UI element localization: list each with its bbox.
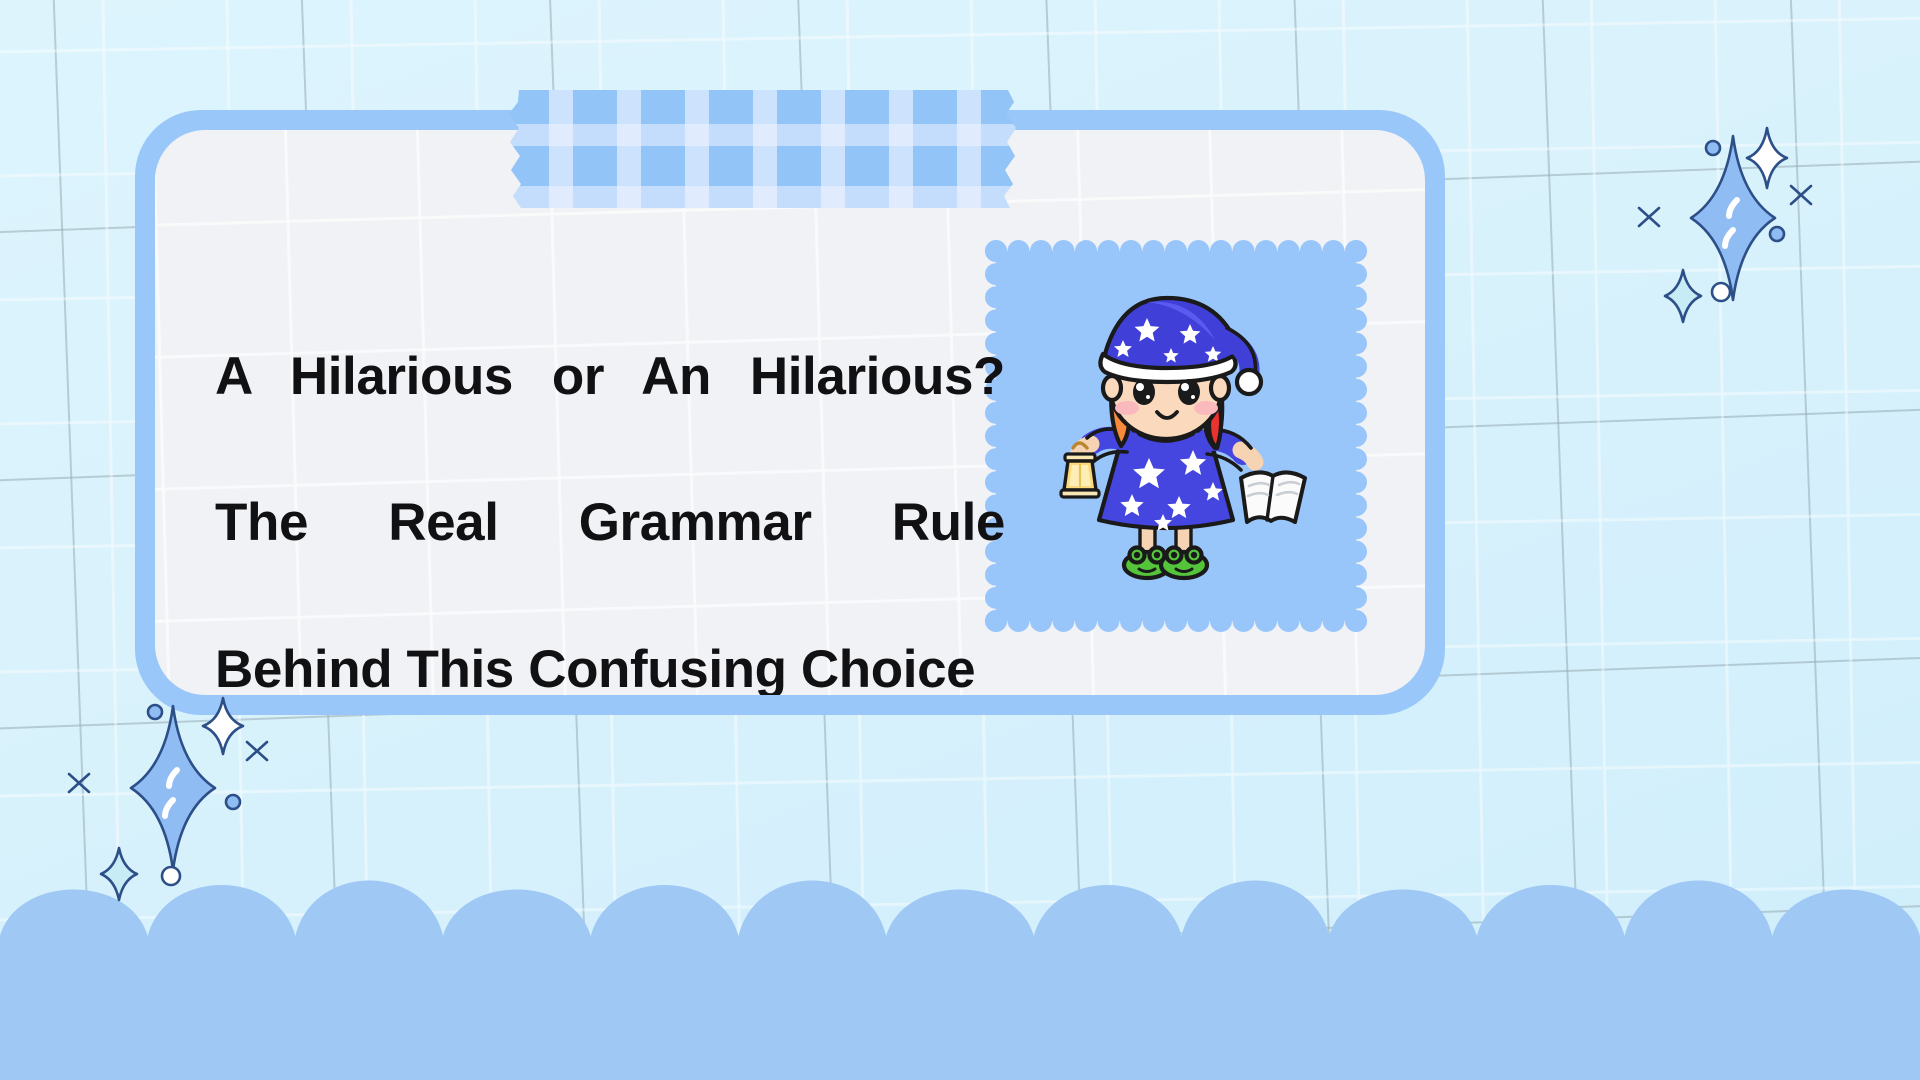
page-title: A Hilarious or An Hilarious? The Real Gr… xyxy=(215,340,1005,695)
title-line-3: Behind This Confusing Choice xyxy=(215,633,1005,696)
poster-stage: A Hilarious or An Hilarious? The Real Gr… xyxy=(0,0,1920,1080)
title-line-2: The Real Grammar Rule xyxy=(215,486,1005,632)
washi-tape xyxy=(505,84,1022,212)
title-line-1: A Hilarious or An Hilarious? xyxy=(215,340,1005,486)
nightcap xyxy=(1100,298,1261,394)
frog-slipper-right xyxy=(1161,548,1207,579)
open-book xyxy=(1241,472,1305,522)
card-surface: A Hilarious or An Hilarious? The Real Gr… xyxy=(155,130,1425,695)
character-illustration xyxy=(1027,282,1327,592)
